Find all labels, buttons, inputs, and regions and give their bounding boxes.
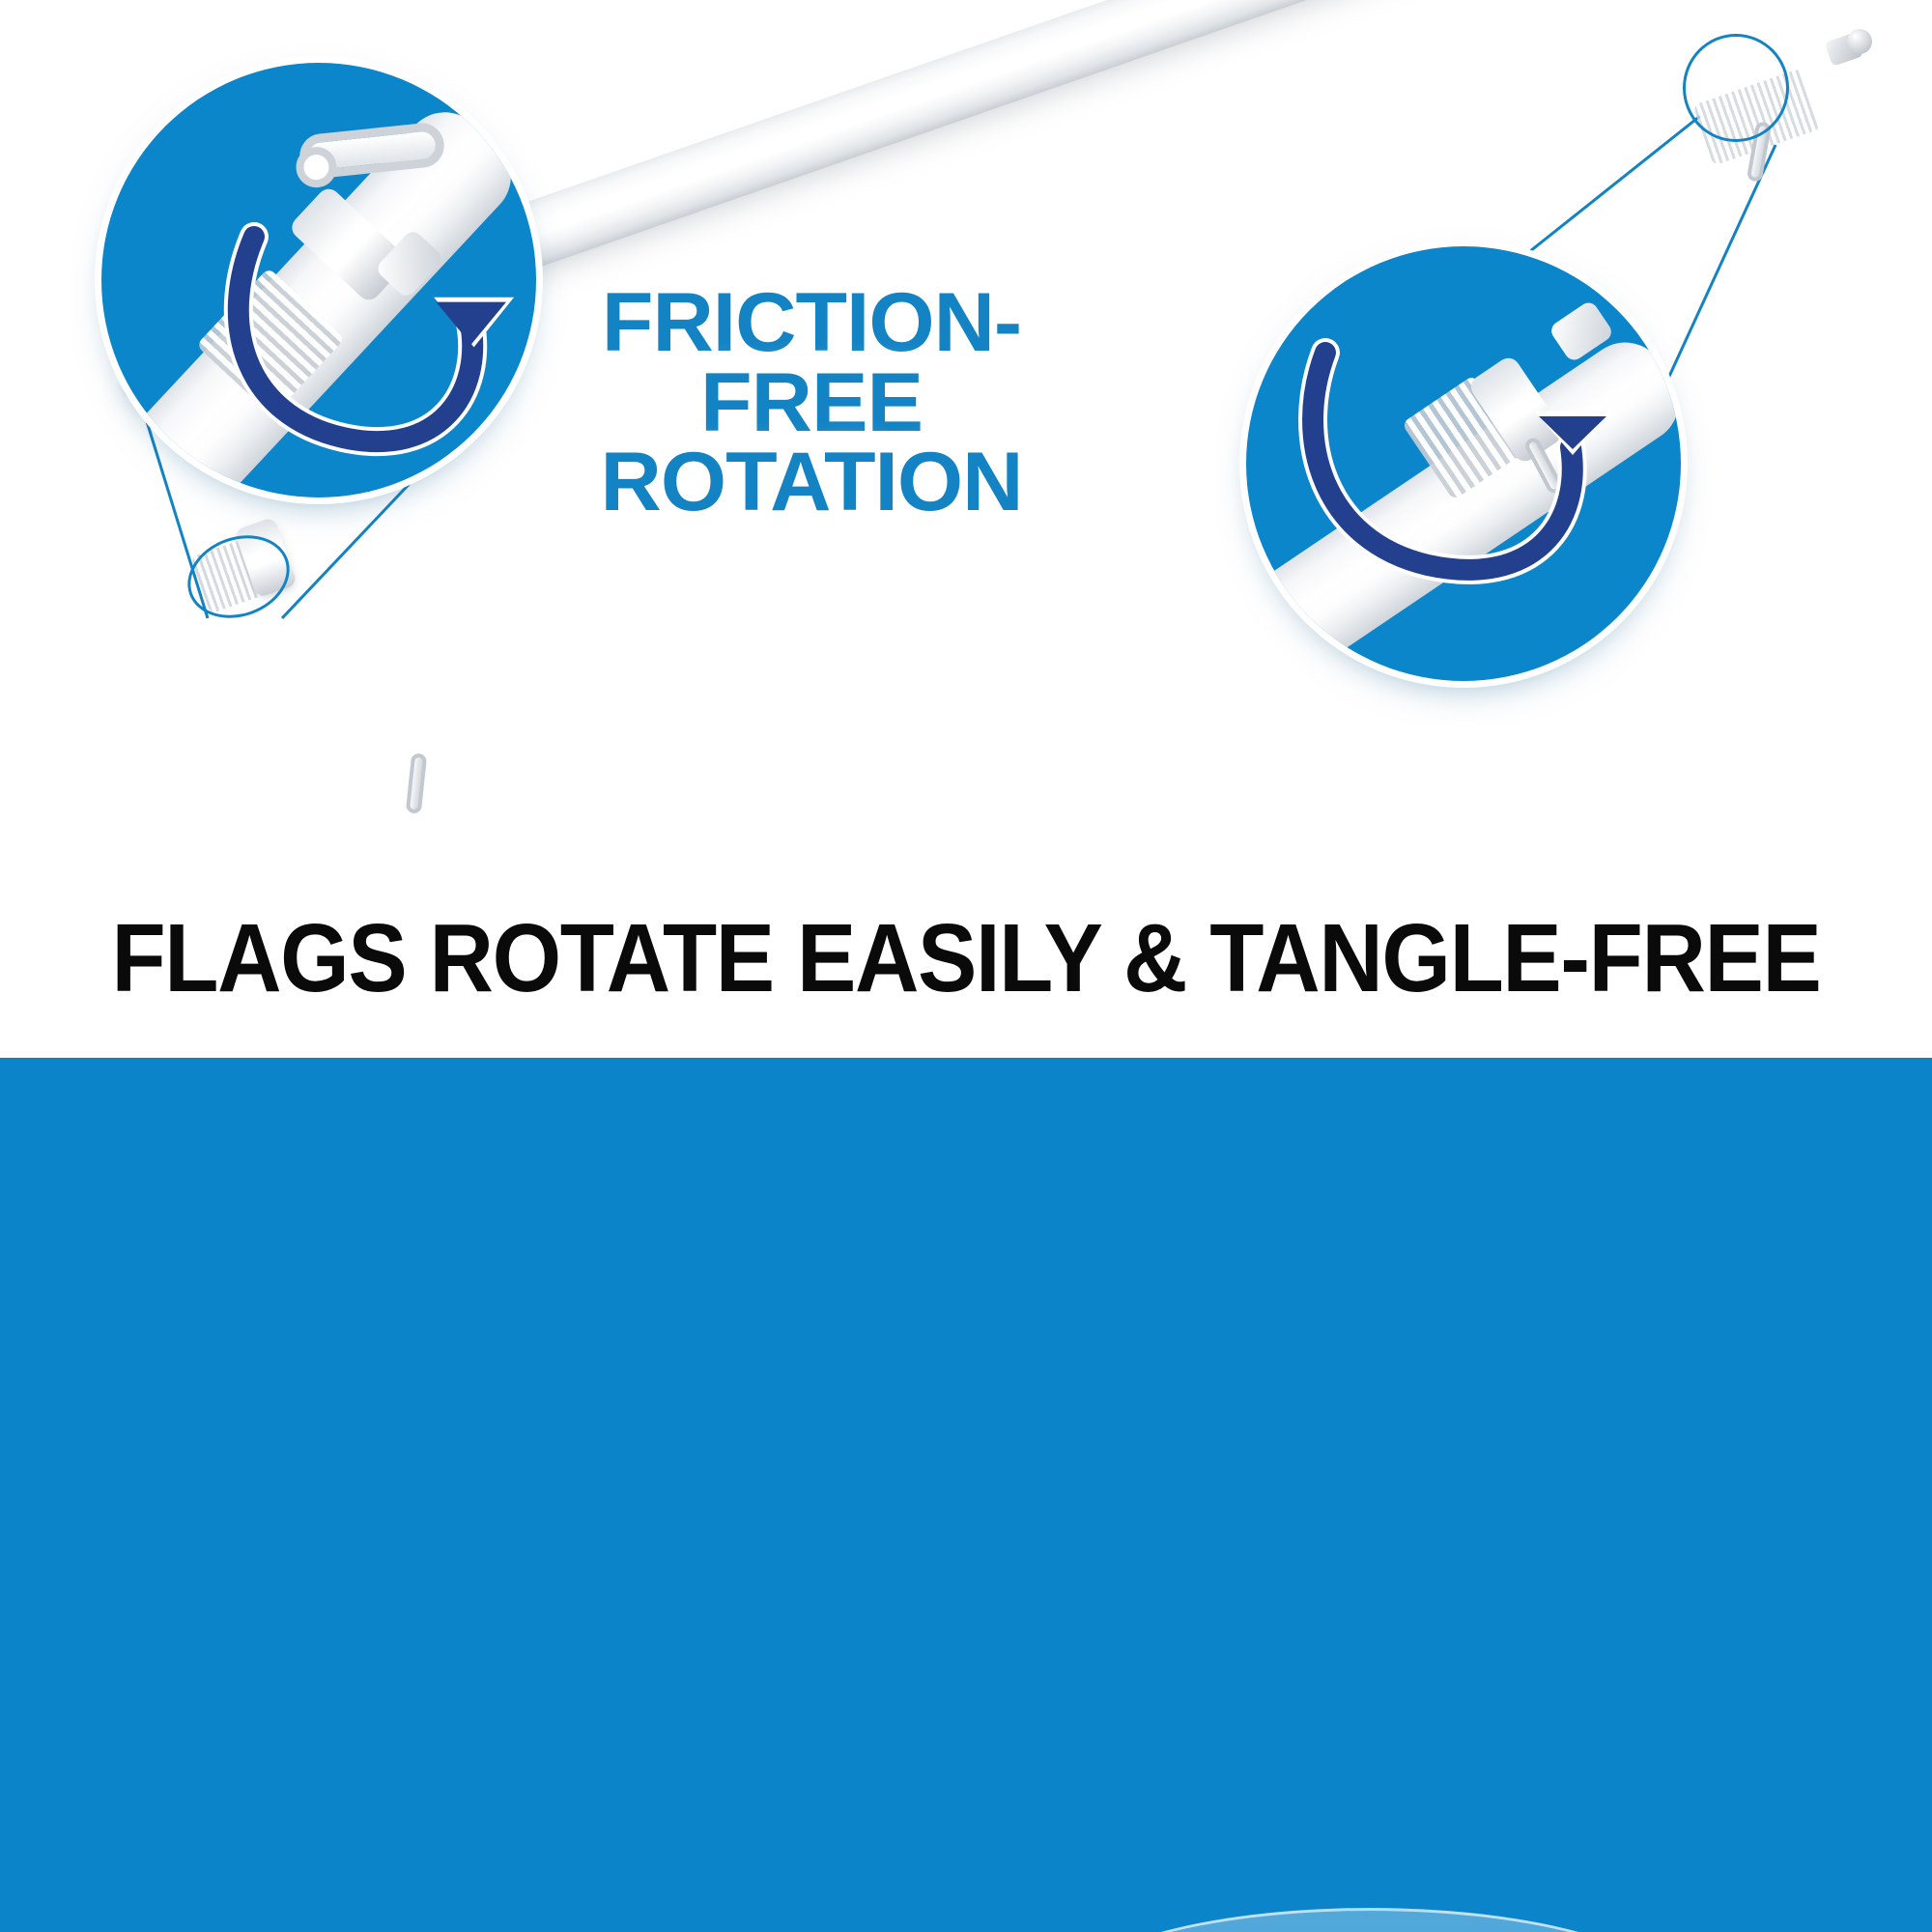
friction-heading-line-2: ROTATION (497, 442, 1127, 523)
rotation-arrow-icon (1285, 333, 1633, 642)
left-zoom-callout (101, 63, 536, 497)
right-callout-source-marker (1683, 34, 1789, 142)
rotation-arrow-icon (198, 208, 517, 478)
main-headline: FLAGS ROTATE EASILY & TANGLE-FREE (77, 903, 1855, 1014)
mounting-ring-cylinder-top-ellipse (1061, 1908, 1679, 1932)
friction-free-heading: FRICTION-FREE ROTATION (497, 283, 1127, 523)
friction-heading-line-1: FRICTION-FREE (602, 276, 1021, 449)
top-white-section: FRICTION-FREE ROTATION FLAGS ROTATE EASI… (0, 0, 1932, 1058)
right-zoom-callout (1246, 246, 1681, 681)
bottom-blue-section: BALL BEARINGS IN THE MOUNTING RINGS PROV… (0, 1058, 1932, 1932)
pole-finial-ball (1847, 29, 1872, 54)
infographic-page: FRICTION-FREE ROTATION FLAGS ROTATE EASI… (0, 0, 1932, 1932)
